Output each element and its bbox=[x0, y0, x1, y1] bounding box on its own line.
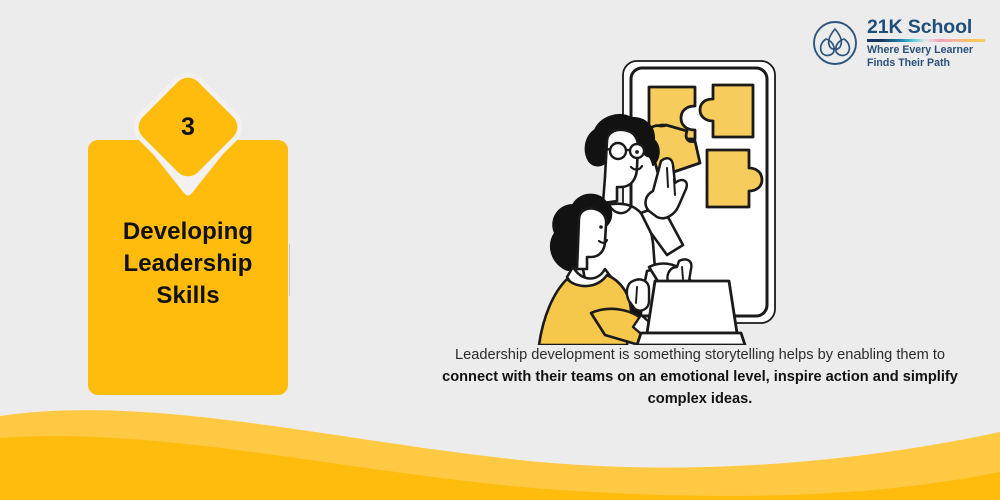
brand-tagline: Where Every Learner Finds Their Path bbox=[867, 44, 992, 70]
seated-woman-finger-l1 bbox=[636, 287, 637, 303]
paragraph-normal-text: Leadership development is something stor… bbox=[455, 347, 945, 363]
laptop-screen bbox=[647, 281, 737, 333]
step-number-badge: 3 bbox=[149, 88, 227, 166]
paragraph-bold-text: connect with their teams on an emotional… bbox=[442, 369, 958, 407]
card-title: Developing Leadership Skills bbox=[88, 216, 288, 312]
body-paragraph: Leadership development is something stor… bbox=[430, 345, 970, 411]
topic-card: Developing Leadership Skills bbox=[88, 140, 288, 395]
brand-name: 21K School bbox=[867, 17, 992, 38]
brand-tagline-line-1: Where Every Learner bbox=[867, 44, 992, 57]
standing-woman-glasses-left-lens bbox=[610, 143, 626, 159]
standing-woman-lower-hand-line bbox=[682, 267, 683, 279]
card-title-line-1: Developing bbox=[88, 216, 288, 248]
card-edge-artifact-line bbox=[289, 244, 290, 296]
brand-logo-text-block: 21K School Where Every Learner Finds The… bbox=[867, 16, 992, 71]
card-title-line-2: Leadership bbox=[88, 248, 288, 280]
standing-woman-glasses-temple bbox=[605, 149, 610, 150]
brand-logo: 21K School Where Every Learner Finds The… bbox=[812, 14, 992, 72]
standing-woman-finger-line-1 bbox=[667, 168, 668, 187]
badge-number-label: 3 bbox=[149, 88, 227, 166]
standing-woman-finger-line-2 bbox=[674, 179, 675, 195]
wave-light-shape bbox=[0, 410, 1000, 500]
brand-tagline-line-2: Finds Their Path bbox=[867, 57, 992, 70]
brand-gradient-rule bbox=[867, 39, 985, 42]
lotus-in-circle-icon bbox=[812, 20, 858, 66]
standing-woman-eye bbox=[635, 150, 639, 154]
card-title-line-3: Skills bbox=[88, 280, 288, 312]
teamwork-puzzle-illustration bbox=[527, 55, 787, 345]
slide-canvas: Developing Leadership Skills 3 bbox=[0, 0, 1000, 500]
wave-dark-shape bbox=[0, 436, 1000, 500]
laptop-base bbox=[637, 333, 745, 345]
seated-woman-eye bbox=[599, 225, 603, 229]
